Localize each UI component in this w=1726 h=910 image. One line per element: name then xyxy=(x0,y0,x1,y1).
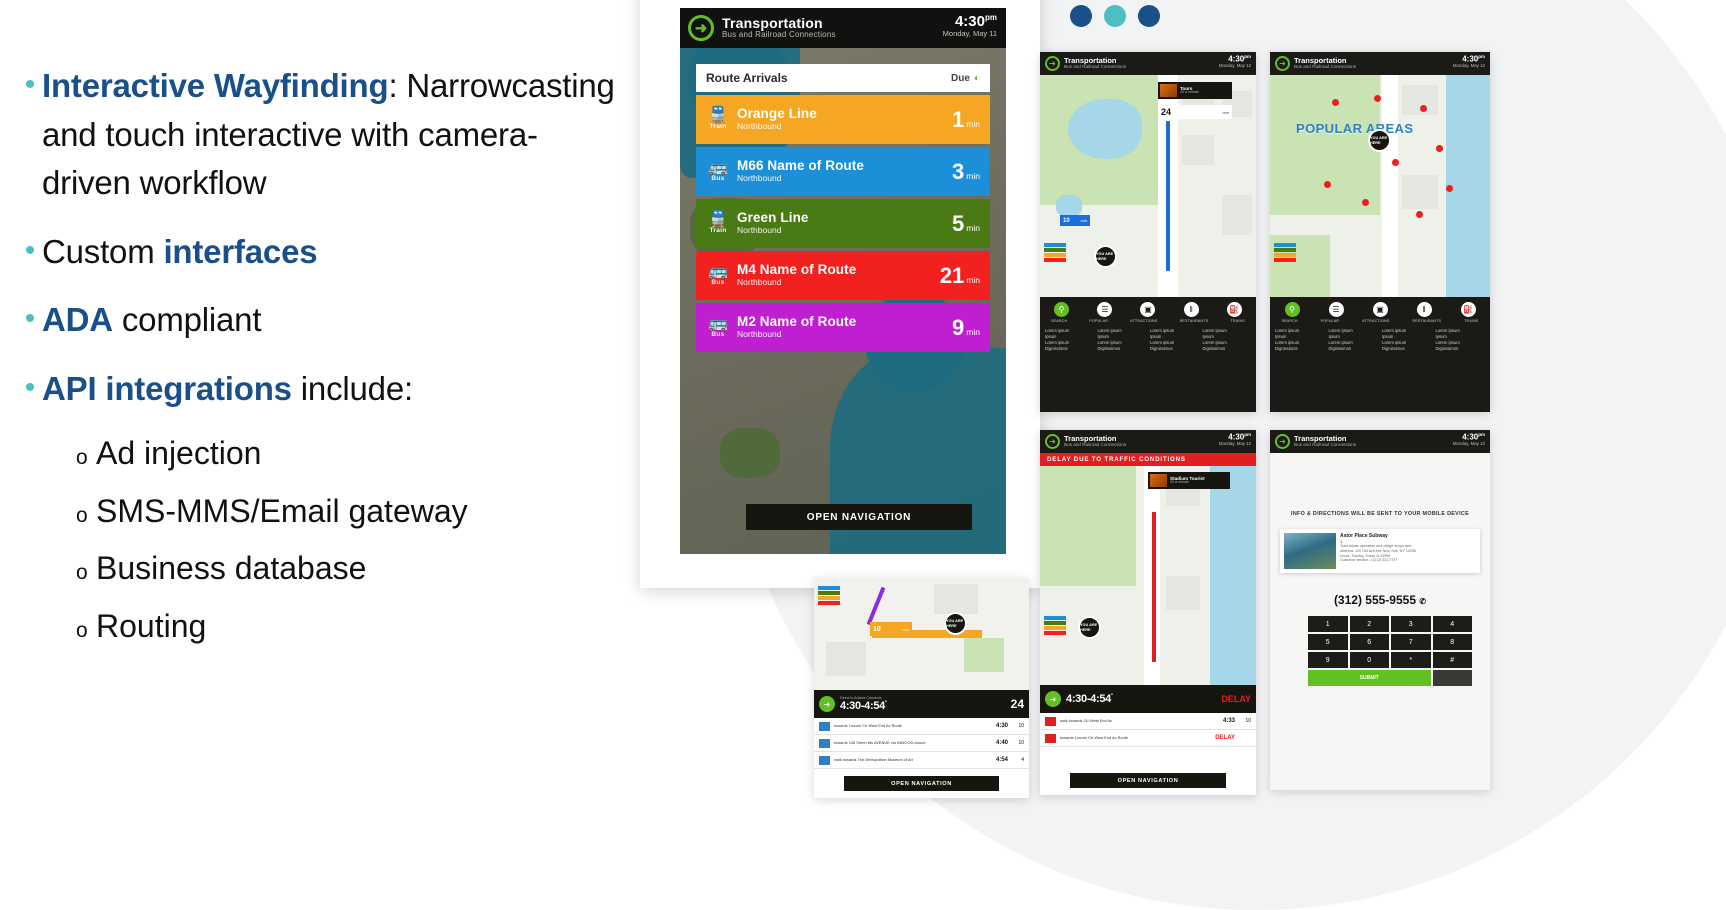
keypad-key[interactable]: 3 xyxy=(1391,616,1431,632)
route-badge-icon xyxy=(1045,717,1056,726)
lipsum-column: Lorem ipsumIpsumLorem ipsumDignissimos xyxy=(1329,328,1379,352)
phone-icon: ✆ xyxy=(1419,597,1426,606)
route-name: Orange Line xyxy=(737,107,952,122)
clock-date: Monday, May 11 xyxy=(943,30,997,38)
nav-icon-row: ⚲ ☰ ▣ ‖ ⛽ xyxy=(1040,297,1256,317)
hero-screen: ➜ Transportation Bus and Railroad Connec… xyxy=(680,8,1006,554)
bullet-lead-text: Custom xyxy=(42,233,163,270)
carousel-dot[interactable] xyxy=(1104,5,1126,27)
arrival-time: 9 min xyxy=(952,315,980,341)
camera-icon[interactable]: ▣ xyxy=(1140,302,1155,317)
schedule-row-count: 10 xyxy=(1239,718,1251,724)
bullet-bold-text: ADA xyxy=(42,301,113,338)
thumb-app-header: ➜ Transportation Bus and Railroad Connec… xyxy=(1270,430,1490,453)
clock-date: Monday, May 12 xyxy=(1219,442,1251,446)
route-polyline xyxy=(1152,512,1156,662)
lipsum-line: Dignissimos xyxy=(1436,346,1486,352)
lipsum-line: Dignissimos xyxy=(1150,346,1199,352)
thumb-info-keypad[interactable]: ➜ Transportation Bus and Railroad Connec… xyxy=(1270,430,1490,790)
thumb-nav-bar: ⚲ ☰ ▣ ‖ ⛽ SEARCH POPULAR ATTRACTIONS RES… xyxy=(1270,297,1490,412)
route-arrivals-panel: Route Arrivals Due ◐ 🚆 Train Orange Line… xyxy=(696,64,990,352)
nav-label: ATTRACTIONS xyxy=(1362,319,1389,323)
train-icon[interactable]: ⛽ xyxy=(1227,302,1242,317)
bullet-bold-text: interfaces xyxy=(163,233,317,270)
delay-status: DELAY xyxy=(1221,694,1251,704)
schedule-row-time: 4:33 xyxy=(1223,718,1235,724)
bullet-label: API integrations include: xyxy=(42,365,413,414)
bullet-dot-icon: • xyxy=(18,228,42,266)
route-direction: Northbound xyxy=(737,122,952,131)
poi-pin-icon[interactable] xyxy=(1362,199,1369,206)
keypad-key[interactable]: 1 xyxy=(1308,616,1348,632)
schedule-rows: towards Lincoln Ctr West End Av Route 4:… xyxy=(814,718,1029,769)
you-are-here-marker: YOU ARE HERE xyxy=(1078,616,1101,639)
keypad-key[interactable]: * xyxy=(1391,652,1431,668)
app-title: Transportation xyxy=(722,16,836,31)
poi-pin-icon[interactable] xyxy=(1416,211,1423,218)
keypad-key[interactable]: 8 xyxy=(1433,634,1473,650)
sub-bullet-ad-injection: o Ad injection xyxy=(76,433,620,475)
schedule-row[interactable]: towards 145 Street 8th AVENUE via INWOOD… xyxy=(814,735,1029,752)
route-badge-icon xyxy=(819,722,830,731)
header-clock: 4:30pm Monday, May 12 xyxy=(1219,55,1251,68)
schedule-row[interactable]: walk towards The Metropolitan Museum of … xyxy=(814,752,1029,769)
bullet-item-custom-interfaces: • Custom interfaces xyxy=(18,228,620,277)
schedule-row-text: walk towards The Metropolitan Museum of … xyxy=(834,758,992,762)
header-clock: 4:30pm Monday, May 11 xyxy=(943,14,997,38)
arrival-row[interactable]: 🚆 Train Orange Line Northbound 1 min xyxy=(696,95,990,144)
lipsum-line: Dignissimos xyxy=(1329,346,1379,352)
arrow-right-circle-icon: ➜ xyxy=(1275,56,1290,71)
lipsum-column: Lorem ipsumIpsumLorem ipsumDignissimos xyxy=(1436,328,1486,352)
poi-pin-icon[interactable] xyxy=(1420,105,1427,112)
bullet-label: Custom interfaces xyxy=(42,228,317,277)
eta-unit: min xyxy=(1223,110,1229,115)
you-are-here-label: YOU ARE HERE xyxy=(1080,623,1099,631)
route-name: M4 Name of Route xyxy=(737,263,940,278)
hero-kiosk-card: ➜ Transportation Bus and Railroad Connec… xyxy=(640,0,1040,588)
lipsum-column: Lorem ipsumIpsumLorem ipsumDignissimos xyxy=(1150,328,1199,352)
nav-label: SEARCH xyxy=(1281,319,1297,323)
sub-bullet-label: Routing xyxy=(96,606,206,648)
bus-icon: 🚌 Bus xyxy=(703,264,733,288)
arrival-minutes: 9 xyxy=(952,315,964,341)
arrival-time: 21 min xyxy=(940,263,980,289)
schedule-row[interactable]: towards Lincoln Ctr West End Av Route DE… xyxy=(1040,730,1256,747)
you-are-here-marker: YOU ARE HERE xyxy=(944,612,967,635)
phone-number-value: (312) 555-9555 xyxy=(1334,593,1416,607)
arrival-unit: min xyxy=(966,171,980,181)
app-subtitle: Bus and Railroad Connections xyxy=(1064,65,1126,70)
route-name: Green Line xyxy=(737,211,952,226)
hero-app-header: ➜ Transportation Bus and Railroad Connec… xyxy=(680,8,1006,48)
poi-pin-icon[interactable] xyxy=(1324,181,1331,188)
search-icon[interactable]: ⚲ xyxy=(1285,302,1300,317)
bullet-label: Interactive Wayfinding: Narrowcasting an… xyxy=(42,62,620,208)
lipsum-column: Lorem ipsumIpsumLorem ipsumDignissimos xyxy=(1098,328,1147,352)
place-address: Address: 120 Old Ave Ave New York, NY 10… xyxy=(1340,549,1416,554)
nav-icon-row: ⚲ ☰ ▣ ‖ ⛽ xyxy=(1270,297,1490,317)
callout-thumbnail xyxy=(1160,84,1177,97)
mode-label: Train xyxy=(703,228,733,235)
poi-pin-icon[interactable] xyxy=(1332,99,1339,106)
sub-bullet-label: SMS-MMS/Email gateway xyxy=(96,491,468,533)
route-direction: Northbound xyxy=(737,278,940,287)
route-badge-icon xyxy=(819,756,830,765)
sub-bullet-marker: o xyxy=(76,548,96,583)
map-canvas[interactable]: Tours 20 a minute 24 min YOU ARE HERE 10… xyxy=(1040,75,1256,297)
sub-bullet-sms-email-gateway: o SMS-MMS/Email gateway xyxy=(76,491,620,533)
sub-bullet-routing: o Routing xyxy=(76,606,620,648)
schedule-time-sup: " xyxy=(1111,693,1113,699)
info-panel: INFO & DIRECTIONS WILL BE SENT TO YOUR M… xyxy=(1270,453,1490,790)
bullet-dot-icon: • xyxy=(18,296,42,334)
carousel-dots[interactable] xyxy=(1070,5,1160,27)
list-icon[interactable]: ☰ xyxy=(1329,302,1344,317)
schedule-time-range: 4:30-4:54 xyxy=(840,700,885,712)
numeric-keypad[interactable]: 1 2 3 4 5 6 7 8 9 0 * # SUBMIT xyxy=(1308,616,1472,686)
open-navigation-button[interactable]: OPEN NAVIGATION xyxy=(746,504,972,530)
thumb-route-map[interactable]: ➜ Transportation Bus and Railroad Connec… xyxy=(1040,52,1256,412)
arrivals-title: Route Arrivals xyxy=(706,71,788,85)
route-badge-icon xyxy=(1045,734,1056,743)
signal-icon: ◐ xyxy=(974,73,980,84)
sub-bullet-marker: o xyxy=(76,491,96,526)
app-subtitle: Bus and Railroad Connections xyxy=(1294,443,1356,448)
clock-date: Monday, May 12 xyxy=(1453,64,1485,68)
bus-icon: 🚌 Bus xyxy=(703,316,733,340)
arrival-row[interactable]: 🚆 Train Green Line Northbound 5 min xyxy=(696,199,990,248)
nav-label: POPULAR xyxy=(1089,319,1108,323)
keypad-key[interactable]: 5 xyxy=(1308,634,1348,650)
arrival-row[interactable]: 🚌 Bus M4 Name of Route Northbound 21 min xyxy=(696,251,990,300)
bullet-label: ADA compliant xyxy=(42,296,261,345)
mode-label: Bus xyxy=(703,280,733,287)
lipsum-line: Dignissimos xyxy=(1382,346,1432,352)
schedule-row-text: towards Lincoln Ctr West End Av Route xyxy=(1060,736,1211,740)
arrival-unit: min xyxy=(966,275,980,285)
poi-pin-icon[interactable] xyxy=(1446,185,1453,192)
clock-ampm: pm xyxy=(1478,54,1485,59)
poi-pin-icon[interactable] xyxy=(1436,145,1443,152)
train-icon[interactable]: ⛽ xyxy=(1461,302,1476,317)
arrow-right-circle-icon: ➜ xyxy=(688,15,714,41)
submit-button[interactable]: SUBMIT xyxy=(1308,670,1431,686)
schedule-time-sup: " xyxy=(885,700,887,706)
callout-subtitle: 20 a minute xyxy=(1180,91,1199,95)
keypad-key[interactable]: # xyxy=(1433,652,1473,668)
route-direction: Northbound xyxy=(737,226,952,235)
lipsum-line: Dignissimos xyxy=(1203,346,1252,352)
arrival-row[interactable]: 🚌 Bus M2 Name of Route Northbound 9 min xyxy=(696,303,990,352)
badge-value: 10 xyxy=(1063,218,1070,224)
delay-banner: DELAY DUE TO TRAFFIC CONDITIONS xyxy=(1040,453,1256,466)
schedule-row-text: towards Lincoln Ctr West End Av Route xyxy=(834,724,992,728)
thumb-app-header: ➜ Transportation Bus and Railroad Connec… xyxy=(1040,430,1256,453)
clock-ampm: pm xyxy=(1244,54,1251,59)
arrivals-header: Route Arrivals Due ◐ xyxy=(696,64,990,92)
map-legend xyxy=(1044,243,1066,263)
arrow-right-circle-icon: ➜ xyxy=(1045,434,1060,449)
map-callout[interactable]: Tours 20 a minute xyxy=(1158,82,1232,99)
poi-pin-icon[interactable] xyxy=(1374,95,1381,102)
bullet-item-api-integrations: • API integrations include: xyxy=(18,365,620,414)
lipsum-line: Dignissimos xyxy=(1275,346,1325,352)
due-column-header: Due ◐ xyxy=(951,73,980,84)
arrow-right-circle-icon: ➜ xyxy=(1045,56,1060,71)
you-are-here-label: YOU ARE HERE xyxy=(1096,252,1115,260)
nav-label: SEARCH xyxy=(1051,319,1067,323)
schedule-row-count: 10 xyxy=(1012,723,1024,729)
nav-label: TRAINS xyxy=(1464,319,1478,323)
sub-bullet-marker: o xyxy=(76,606,96,641)
arrival-minutes: 21 xyxy=(940,263,964,289)
arrival-unit: min xyxy=(966,119,980,129)
lipsum-column: Lorem ipsumIpsumLorem ipsumDignissimos xyxy=(1203,328,1252,352)
popular-areas-label: POPULAR AREAS xyxy=(1296,121,1413,136)
bullet-bold-text: Interactive Wayfinding xyxy=(42,67,388,104)
schedule-row-time: DELAY xyxy=(1215,735,1235,741)
thumb-app-header: ➜ Transportation Bus and Railroad Connec… xyxy=(1040,52,1256,75)
lipsum-listing-grid: Lorem ipsumIpsumLorem ipsumDignissimos L… xyxy=(1040,323,1256,356)
thumb-popular-areas[interactable]: ➜ Transportation Bus and Railroad Connec… xyxy=(1270,52,1490,412)
route-direction: Northbound xyxy=(737,174,952,183)
keypad-key[interactable]: 6 xyxy=(1350,634,1390,650)
map-canvas[interactable]: POPULAR AREAS YOU ARE HERE xyxy=(1270,75,1490,297)
app-subtitle: Bus and Railroad Connections xyxy=(1064,443,1126,448)
clock-time: 4:30 xyxy=(955,13,985,30)
schedule-row[interactable]: towards Lincoln Ctr West End Av Route 4:… xyxy=(814,718,1029,735)
route-polyline xyxy=(867,587,886,626)
schedule-row-time: 4:54 xyxy=(996,757,1008,763)
mode-label: Bus xyxy=(703,176,733,183)
schedule-row-text: walk towards 2U-West End Av xyxy=(1060,719,1219,723)
arrival-unit: min xyxy=(966,223,980,233)
clock-ampm: pm xyxy=(1244,432,1251,437)
arrow-right-circle-icon: ➜ xyxy=(1275,434,1290,449)
route-name: M66 Name of Route xyxy=(737,159,952,174)
callout-eta: 24 min xyxy=(1158,105,1232,119)
thumb-app-header: ➜ Transportation Bus and Railroad Connec… xyxy=(1270,52,1490,75)
nav-label: RESTAURANTS xyxy=(1412,319,1441,323)
route-badge: 10 min xyxy=(870,622,912,636)
schedule-count: 24 xyxy=(1011,697,1024,711)
arrival-unit: min xyxy=(966,327,980,337)
sub-bullet-label: Business database xyxy=(96,548,366,590)
lipsum-column: Lorem ipsumIpsumLorem ipsumDignissimos xyxy=(1045,328,1094,352)
you-are-here-marker: YOU ARE HERE xyxy=(1094,245,1117,268)
open-navigation-button[interactable]: OPEN NAVIGATION xyxy=(1070,773,1226,788)
mockup-gallery: ➜ Transportation Bus and Railroad Connec… xyxy=(636,0,1726,910)
schedule-summary-bar: ➜ 4:30-4:54" DELAY xyxy=(1040,685,1256,713)
sub-bullet-marker: o xyxy=(76,433,96,468)
route-polyline xyxy=(1166,121,1170,271)
schedule-row[interactable]: walk towards 2U-West End Av 4:33 10 xyxy=(1040,713,1256,730)
arrow-right-circle-icon: ➜ xyxy=(819,696,835,712)
arrival-minutes: 3 xyxy=(952,159,964,185)
phone-number-display: (312) 555-9555 ✆ xyxy=(1270,593,1490,607)
lipsum-line: Dignissimos xyxy=(1098,346,1147,352)
keypad-key[interactable]: 4 xyxy=(1433,616,1473,632)
callout-thumbnail xyxy=(1150,474,1167,487)
nav-label: RESTAURANTS xyxy=(1180,319,1209,323)
place-photo xyxy=(1284,533,1336,569)
map-legend xyxy=(1044,616,1066,636)
info-headline: INFO & DIRECTIONS WILL BE SENT TO YOUR M… xyxy=(1270,511,1490,517)
route-direction: Northbound xyxy=(737,330,952,339)
bullet-rest-text: include: xyxy=(292,370,413,407)
thumb-delay-map[interactable]: ➜ Transportation Bus and Railroad Connec… xyxy=(1040,430,1256,795)
callout-subtitle: 20 a minute xyxy=(1170,481,1205,485)
list-icon[interactable]: ☰ xyxy=(1097,302,1112,317)
keypad-blank-key[interactable] xyxy=(1433,670,1473,686)
arrow-right-circle-icon: ➜ xyxy=(1045,691,1061,707)
map-canvas[interactable]: Stadium Tourist 20 a minute YOU ARE HERE xyxy=(1040,466,1256,685)
train-icon: 🚆 Train xyxy=(703,212,733,236)
you-are-here-label: YOU ARE HERE xyxy=(946,619,965,627)
mode-label: Train xyxy=(703,124,733,131)
keypad-key[interactable]: 7 xyxy=(1391,634,1431,650)
app-subtitle: Bus and Railroad Connections xyxy=(1294,65,1356,70)
bullet-item-ada-compliant: • ADA compliant xyxy=(18,296,620,345)
keypad-key[interactable]: 2 xyxy=(1350,616,1390,632)
map-canvas[interactable]: 10 min YOU ARE HERE xyxy=(814,578,1029,690)
clock-ampm: pm xyxy=(985,13,997,22)
app-subtitle: Bus and Railroad Connections xyxy=(722,31,836,39)
schedule-summary-bar: ➜ Direct to Adams Connects 4:30-4:54" 24 xyxy=(814,690,1029,718)
bullet-item-interactive-wayfinding: • Interactive Wayfinding: Narrowcasting … xyxy=(18,62,620,208)
schedule-row-count: 4 xyxy=(1012,757,1024,763)
bullet-dot-icon: • xyxy=(18,62,42,100)
slide-text-column: • Interactive Wayfinding: Narrowcasting … xyxy=(0,0,640,910)
lipsum-column: Lorem ipsumIpsumLorem ipsumDignissimos xyxy=(1382,328,1432,352)
clock-ampm: pm xyxy=(1478,432,1485,437)
badge-unit: min xyxy=(903,627,909,632)
bullet-bold-text: API integrations xyxy=(42,370,292,407)
route-badge: 10 min xyxy=(1060,215,1090,226)
schedule-time-range: 4:30-4:54 xyxy=(1066,693,1111,705)
schedule-rows: walk towards 2U-West End Av 4:33 10 towa… xyxy=(1040,713,1256,747)
schedule-row-text: towards 145 Street 8th AVENUE via INWOOD… xyxy=(834,741,992,745)
bullet-rest-text: compliant xyxy=(113,301,261,338)
thumb-schedule-map[interactable]: 10 min YOU ARE HERE ➜ Direct to Adams Co… xyxy=(814,578,1029,798)
arrival-time: 3 min xyxy=(952,159,980,185)
arrival-time: 5 min xyxy=(952,211,980,237)
lipsum-column: Lorem ipsumIpsumLorem ipsumDignissimos xyxy=(1275,328,1325,352)
lipsum-line: Dignissimos xyxy=(1045,346,1094,352)
header-clock: 4:30pm Monday, May 12 xyxy=(1453,55,1485,68)
due-label: Due xyxy=(951,73,970,84)
carousel-dot[interactable] xyxy=(1070,5,1092,27)
arrival-time: 1 min xyxy=(952,107,980,133)
route-badge-icon xyxy=(819,739,830,748)
sub-bullet-label: Ad injection xyxy=(96,433,261,475)
lipsum-listing-grid: Lorem ipsumIpsumLorem ipsumDignissimos L… xyxy=(1270,323,1490,356)
place-info-card[interactable]: Astor Place Subway & Train allows operat… xyxy=(1280,529,1480,573)
train-icon: 🚆 Train xyxy=(703,108,733,132)
badge-value: 10 xyxy=(873,626,881,633)
you-are-here-label: YOU ARE HERE xyxy=(1370,136,1389,144)
schedule-row-count: 10 xyxy=(1012,740,1024,746)
eta-minutes: 24 xyxy=(1161,107,1171,117)
open-navigation-button[interactable]: OPEN NAVIGATION xyxy=(844,776,999,791)
route-name: M2 Name of Route xyxy=(737,315,952,330)
bus-icon: 🚌 Bus xyxy=(703,160,733,184)
search-icon[interactable]: ⚲ xyxy=(1054,302,1069,317)
poi-pin-icon[interactable] xyxy=(1392,159,1399,166)
schedule-row-time: 4:30 xyxy=(996,723,1008,729)
keypad-key[interactable]: 0 xyxy=(1350,652,1390,668)
badge-unit: min xyxy=(1081,218,1087,223)
carousel-dot[interactable] xyxy=(1138,5,1160,27)
header-clock: 4:30pm Monday, May 12 xyxy=(1219,433,1251,446)
arrival-minutes: 5 xyxy=(952,211,964,237)
nav-label: TRAINS xyxy=(1230,319,1244,323)
clock-date: Monday, May 12 xyxy=(1219,64,1251,68)
arrival-row[interactable]: 🚌 Bus M66 Name of Route Northbound 3 min xyxy=(696,147,990,196)
utensils-icon[interactable]: ‖ xyxy=(1184,302,1199,317)
header-clock: 4:30pm Monday, May 12 xyxy=(1453,433,1485,446)
keypad-key[interactable]: 9 xyxy=(1308,652,1348,668)
arrival-minutes: 1 xyxy=(952,107,964,133)
map-legend xyxy=(1274,243,1296,263)
thumb-nav-bar: ⚲ ☰ ▣ ‖ ⛽ SEARCH POPULAR ATTRACTIONS RES… xyxy=(1040,297,1256,412)
mode-label: Bus xyxy=(703,332,733,339)
clock-date: Monday, May 12 xyxy=(1453,442,1485,446)
sub-bullet-business-database: o Business database xyxy=(76,548,620,590)
place-phone-note: Customer service: 1 (212) 311-7737 xyxy=(1340,558,1416,563)
nav-label: POPULAR xyxy=(1321,319,1340,323)
schedule-row-time: 4:40 xyxy=(996,740,1008,746)
utensils-icon[interactable]: ‖ xyxy=(1417,302,1432,317)
camera-icon[interactable]: ▣ xyxy=(1373,302,1388,317)
map-callout[interactable]: Stadium Tourist 20 a minute xyxy=(1148,472,1230,489)
bullet-dot-icon: • xyxy=(18,365,42,403)
map-legend xyxy=(818,586,840,606)
nav-label: ATTRACTIONS xyxy=(1130,319,1157,323)
you-are-here-marker: YOU ARE HERE xyxy=(1368,129,1391,152)
